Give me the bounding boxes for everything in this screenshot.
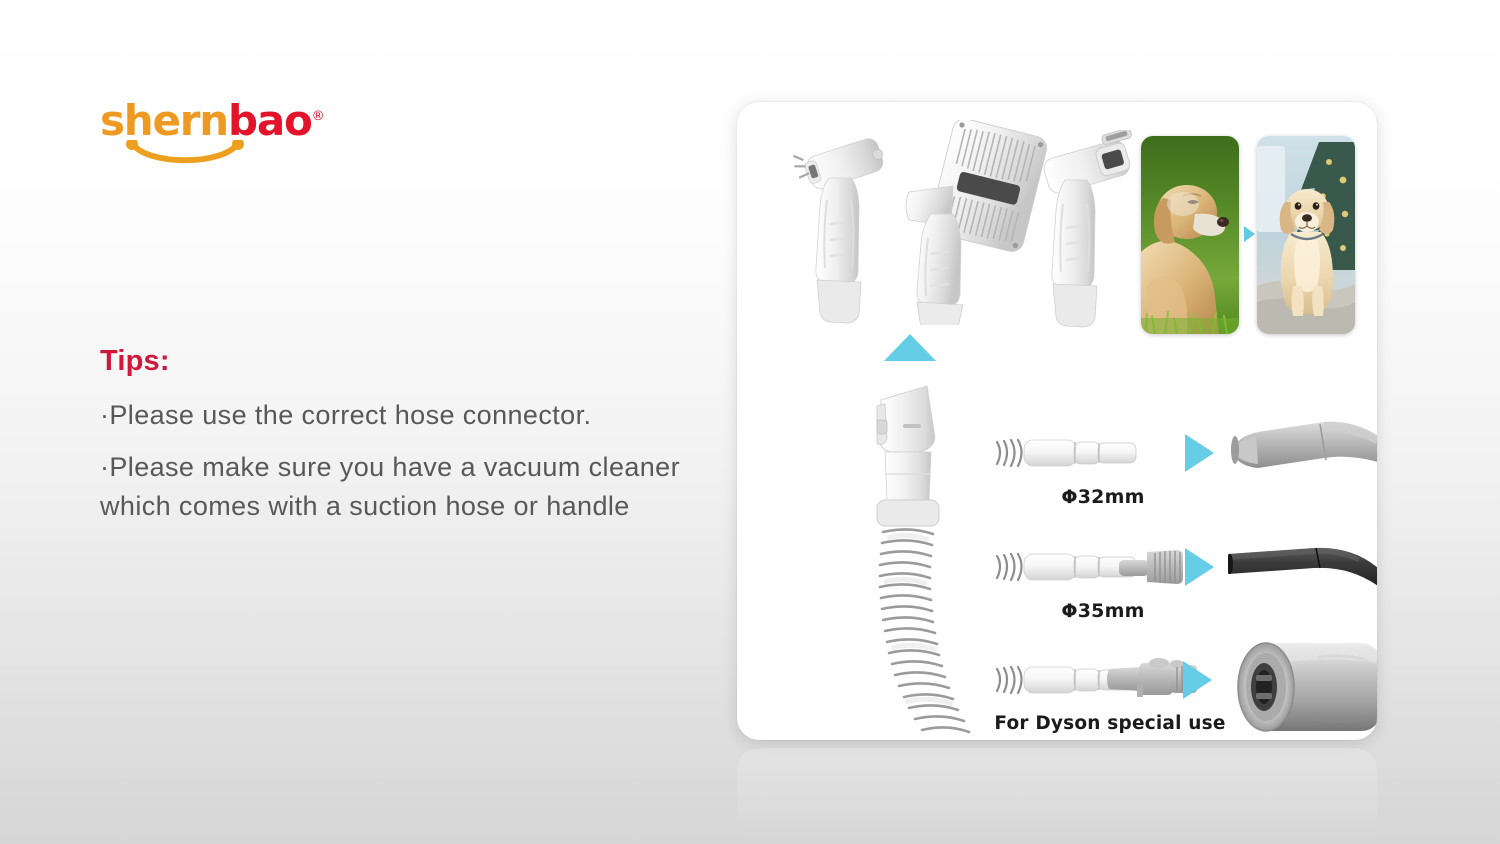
- panel-reflection: [737, 748, 1377, 844]
- connector-label-35mm: Φ35mm: [993, 600, 1213, 622]
- suction-hose-icon: [847, 376, 977, 736]
- connector-row-35mm: Φ35mm: [985, 534, 1377, 646]
- product-illustration-panel: Φ32mm: [737, 102, 1377, 740]
- tips-heading: Tips:: [100, 345, 710, 378]
- dog-after-photo: [1257, 136, 1355, 334]
- row-arrow-icon-3: [1183, 661, 1212, 699]
- connector-label-32mm: Φ32mm: [993, 486, 1213, 508]
- white-connector-icon: [991, 428, 1171, 478]
- shernbao-logo: shernbao®: [100, 100, 300, 170]
- logo-wordmark: shernbao®: [100, 100, 300, 142]
- connector-row-32mm: Φ32mm: [985, 420, 1377, 532]
- left-content-column: shernbao® Tips: ·Please use the correct …: [100, 100, 710, 539]
- registered-trademark-icon: ®: [312, 109, 324, 124]
- logo-smile-icon: [126, 140, 244, 166]
- tips-list: ·Please use the correct hose connector. …: [100, 396, 710, 525]
- before-after-arrow-icon: [1244, 226, 1255, 242]
- row-arrow-icon-2: [1185, 548, 1214, 586]
- dog-before-photo: [1141, 136, 1239, 334]
- suction-hose-assembly: [847, 376, 977, 736]
- logo-text-bao: bao: [228, 96, 312, 145]
- tip-item-1: ·Please use the correct hose connector.: [100, 396, 700, 434]
- black-vacuum-hose-image: [1228, 532, 1377, 604]
- upward-arrow-icon: [884, 334, 936, 361]
- dyson-vacuum-inlet-image: [1228, 633, 1377, 740]
- logo-text-shern: shern: [100, 96, 228, 145]
- gray-ribbed-adapter-icon: [1115, 542, 1195, 592]
- connector-label-dyson: For Dyson special use: [985, 713, 1235, 734]
- row-arrow-icon-1: [1185, 434, 1214, 472]
- gray-vacuum-handle-image: [1228, 418, 1377, 490]
- tool-attachments-row: [767, 120, 1357, 335]
- connector-row-dyson: For Dyson special use: [985, 647, 1377, 740]
- tip-item-2: ·Please make sure you have a vacuum clea…: [100, 448, 700, 525]
